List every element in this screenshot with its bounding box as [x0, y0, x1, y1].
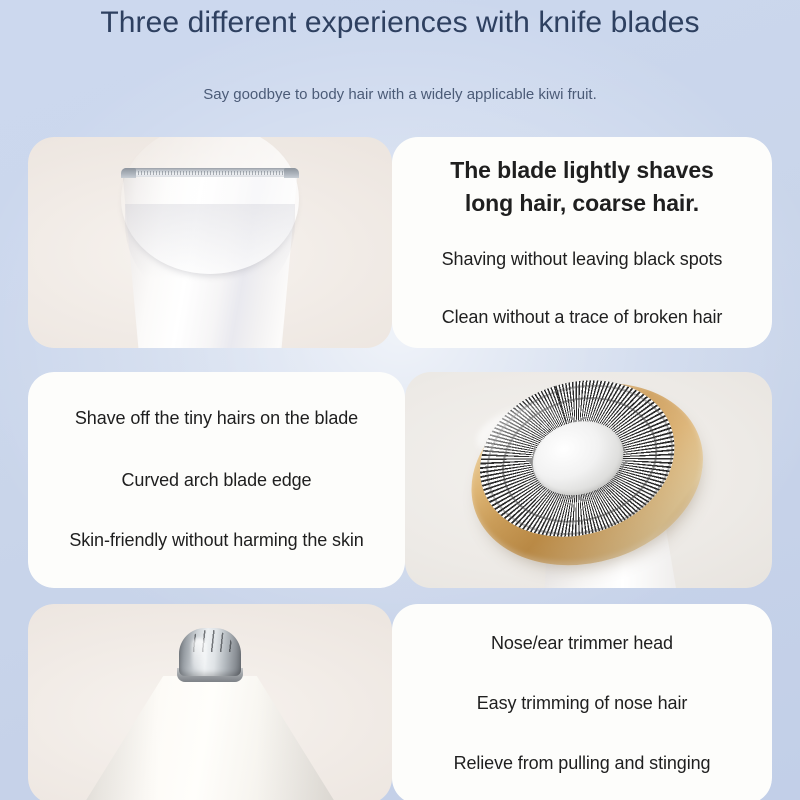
feature-text-foil: Shave off the tiny hairs on the blade Cu… [28, 372, 405, 588]
feature-text-blade: The blade lightly shaves long hair, coar… [392, 137, 772, 348]
feature-heading-line-1: The blade lightly shaves [400, 155, 764, 185]
nose-trimmer-body-shading [80, 676, 340, 800]
feature-body-line-1: Nose/ear trimmer head [400, 632, 764, 656]
feature-heading-line-2: long hair, coarse hair. [400, 188, 764, 218]
feature-card-nose: Nose/ear trimmer head Easy trimming of n… [28, 604, 772, 800]
feature-card-blade: The blade lightly shaves long hair, coar… [28, 137, 772, 348]
feature-body-line-1: Shaving without leaving black spots [400, 248, 764, 272]
product-feature-page: Three different experiences with knife b… [0, 0, 800, 800]
feature-body-line-3: Relieve from pulling and stinging [400, 752, 764, 776]
gold-foil-shaver-head-photo [405, 372, 772, 588]
nose-ear-trimmer-head-photo [28, 604, 392, 800]
feature-body-line-3: Skin-friendly without harming the skin [34, 529, 399, 553]
feature-body-line-2: Easy trimming of nose hair [400, 692, 764, 716]
page-header: Three different experiences with knife b… [0, 0, 800, 105]
trimmer-blade-teeth [129, 171, 291, 175]
feature-body-line-1: Shave off the tiny hairs on the blade [34, 407, 399, 431]
feature-body-line-2: Clean without a trace of broken hair [400, 306, 764, 330]
page-subtitle: Say goodbye to body hair with a widely a… [0, 42, 800, 105]
text-lines: Shave off the tiny hairs on the blade Cu… [34, 407, 399, 552]
trimmer-end-cap-left [121, 168, 136, 178]
trimmer-end-cap-right [284, 168, 299, 178]
feature-card-foil: Shave off the tiny hairs on the blade Cu… [28, 372, 772, 588]
nose-trimmer-tip-gloss [192, 638, 206, 670]
trimmer-illustration [117, 168, 303, 348]
feature-body-line-2: Curved arch blade edge [34, 469, 399, 493]
nose-trimmer-illustration [80, 618, 340, 800]
trimmer-blade-photo [28, 137, 392, 348]
foil-head-illustration [426, 372, 751, 588]
text-lines: The blade lightly shaves long hair, coar… [400, 155, 764, 329]
feature-text-nose: Nose/ear trimmer head Easy trimming of n… [392, 604, 772, 800]
page-title: Three different experiences with knife b… [0, 0, 800, 42]
text-lines: Nose/ear trimmer head Easy trimming of n… [400, 632, 764, 775]
